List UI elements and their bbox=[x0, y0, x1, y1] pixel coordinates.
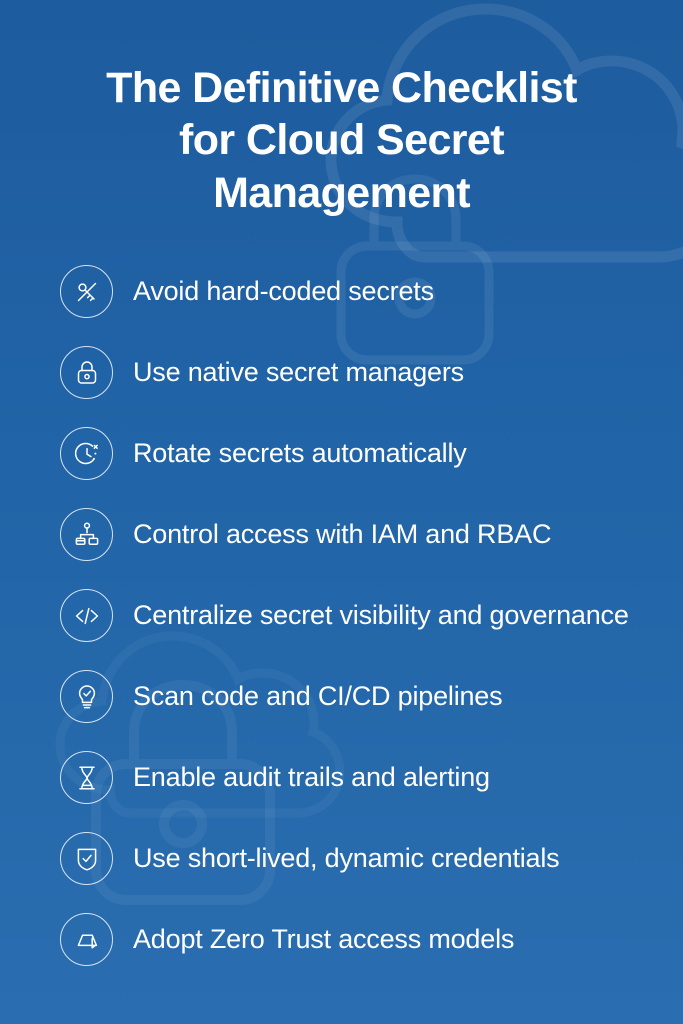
clock-rotate-icon bbox=[60, 427, 113, 480]
list-item-label: Use short-lived, dynamic credentials bbox=[133, 841, 559, 877]
list-item-label: Use native secret managers bbox=[133, 355, 464, 391]
list-item-label: Enable audit trails and alerting bbox=[133, 760, 490, 796]
list-item-label: Rotate secrets automatically bbox=[133, 436, 467, 472]
list-item-label: Control access with IAM and RBAC bbox=[133, 517, 551, 553]
list-item: Avoid hard-coded secrets bbox=[0, 251, 683, 332]
list-item-label: Avoid hard-coded secrets bbox=[133, 274, 434, 310]
list-item: Enable audit trails and alerting bbox=[0, 737, 683, 818]
list-item: Control access with IAM and RBAC bbox=[0, 494, 683, 575]
perimeter-icon bbox=[60, 913, 113, 966]
list-item: Rotate secrets automatically bbox=[0, 413, 683, 494]
lightbulb-check-icon bbox=[60, 670, 113, 723]
code-brackets-icon bbox=[60, 589, 113, 642]
hierarchy-icon bbox=[60, 508, 113, 561]
poster-content: The Definitive Checklist for Cloud Secre… bbox=[0, 0, 683, 1024]
list-item-label: Scan code and CI/CD pipelines bbox=[133, 679, 502, 715]
list-item-label: Adopt Zero Trust access models bbox=[133, 922, 514, 958]
title-line-2: for Cloud Secret bbox=[46, 114, 637, 166]
padlock-icon bbox=[60, 346, 113, 399]
page-title: The Definitive Checklist for Cloud Secre… bbox=[0, 0, 683, 219]
title-line-1: The Definitive Checklist bbox=[46, 62, 637, 114]
list-item: Centralize secret visibility and governa… bbox=[0, 575, 683, 656]
list-item: Use native secret managers bbox=[0, 332, 683, 413]
shield-check-icon bbox=[60, 832, 113, 885]
key-slash-icon bbox=[60, 265, 113, 318]
list-item-label: Centralize secret visibility and governa… bbox=[133, 598, 629, 634]
hourglass-icon bbox=[60, 751, 113, 804]
list-item: Use short-lived, dynamic credentials bbox=[0, 818, 683, 899]
checklist: Avoid hard-coded secrets Use native secr… bbox=[0, 219, 683, 980]
list-item: Scan code and CI/CD pipelines bbox=[0, 656, 683, 737]
list-item: Adopt Zero Trust access models bbox=[0, 899, 683, 980]
title-line-3: Management bbox=[46, 167, 637, 219]
checklist-poster: The Definitive Checklist for Cloud Secre… bbox=[0, 0, 683, 1024]
